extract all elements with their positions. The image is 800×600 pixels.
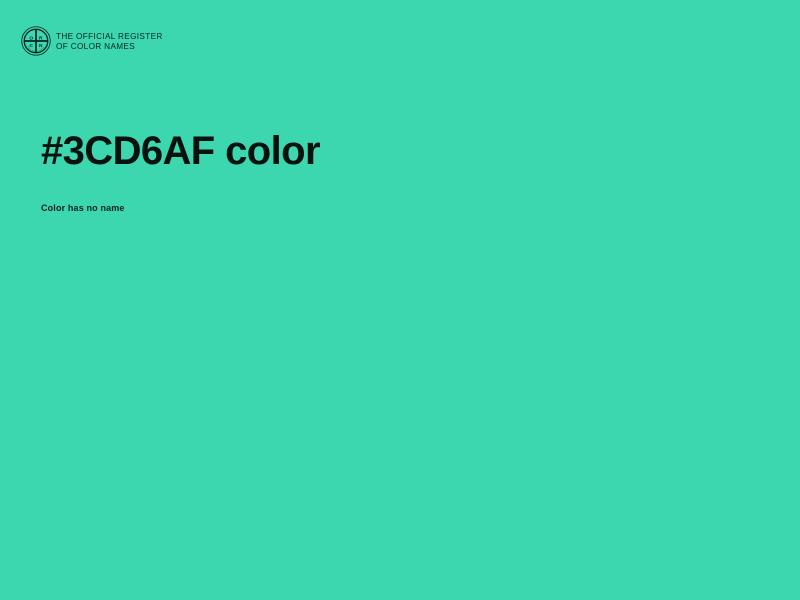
svg-text:O: O [29,36,33,42]
svg-text:C: C [30,43,34,49]
color-info-block: #3CD6AF color Color has no name [41,128,741,214]
brand-wordmark-line-1: THE OFFICIAL REGISTER [56,32,163,42]
svg-text:N: N [39,43,43,49]
svg-text:R: R [39,36,43,42]
color-name-status: Color has no name [41,174,741,214]
brand-wordmark: THE OFFICIAL REGISTER OF COLOR NAMES [56,31,163,51]
brand-lockup[interactable]: O R C N THE OFFICIAL REGISTER OF COLOR N… [21,26,163,56]
official-register-seal-icon: O R C N [21,26,51,56]
page-title: #3CD6AF color [41,128,741,174]
brand-wordmark-line-2: OF COLOR NAMES [56,42,163,52]
color-page: O R C N THE OFFICIAL REGISTER OF COLOR N… [0,0,800,600]
